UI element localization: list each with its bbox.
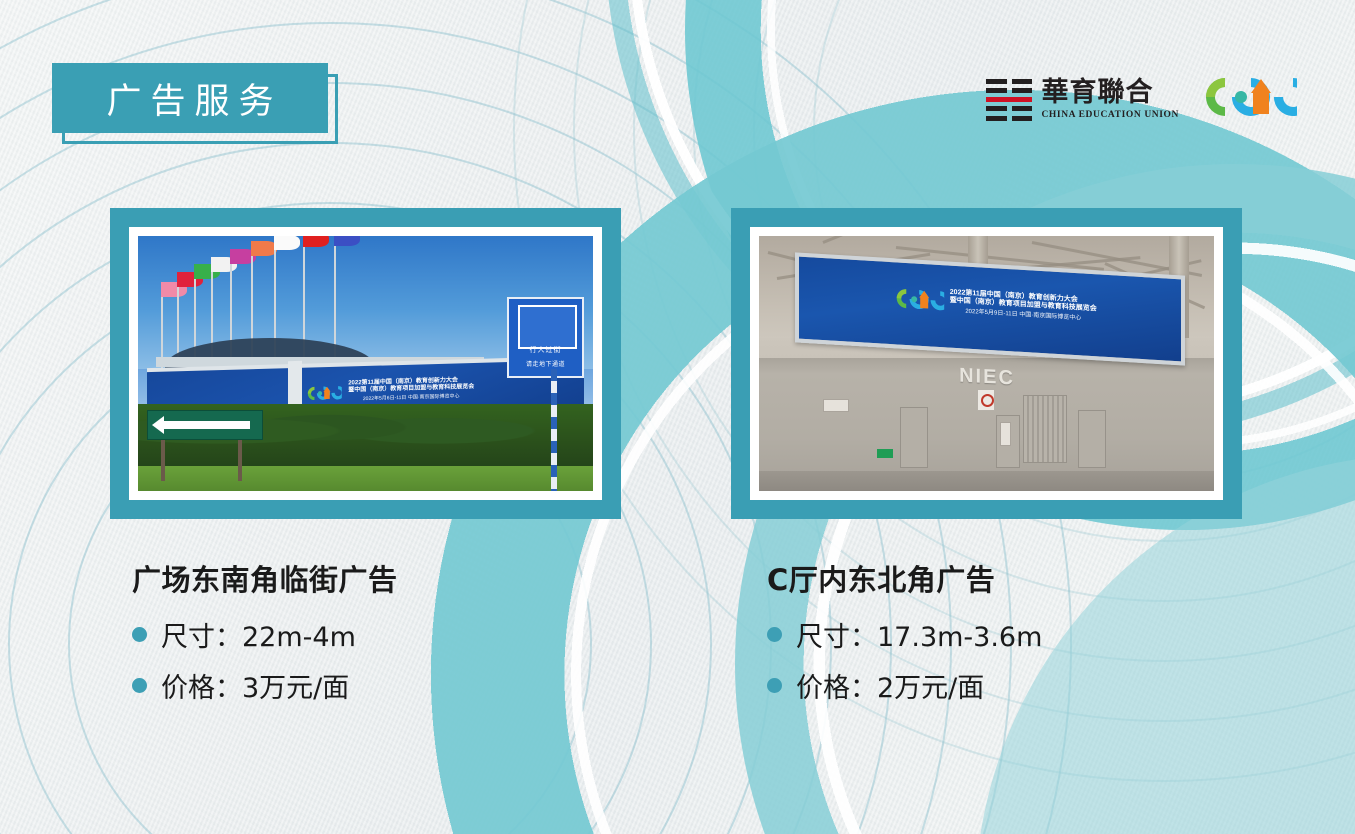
china-education-union-logo: 華育聯合 CHINA EDUCATION UNION: [986, 79, 1179, 121]
bullet-dot-icon: [767, 678, 782, 693]
ad-card-1: 2022第11届中国（南京）教育创新力大会 暨中国（南京）教育项目加盟与教育科技…: [110, 208, 621, 519]
no-smoking-sign-icon: [977, 389, 995, 411]
trigram-logo-icon: [986, 79, 1032, 121]
cdc-logo-svg: [1201, 74, 1297, 120]
cdc-logo-icon: [1201, 74, 1297, 125]
ad-card-1-bullet-size: 尺寸：22m-4m: [132, 615, 398, 654]
page-title-fill: 广告服务: [52, 63, 328, 133]
ad-card-2-bullets: 尺寸：17.3m-3.6m 价格：2万元/面: [767, 615, 1042, 705]
ad-card-2-caption: C厅内东北角广告 尺寸：17.3m-3.6m 价格：2万元/面: [767, 557, 1042, 717]
ad-card-2-bullet-price: 价格：2万元/面: [767, 666, 1042, 705]
exit-sign-icon: [877, 449, 893, 458]
photo1-grass: [138, 466, 593, 492]
photo2-ventilation-grille: [1023, 395, 1067, 463]
photo2-door-right: [1078, 410, 1106, 468]
photo1-billboard-line3: 2022年5月6日-11日 中国·南京国际博览中心: [348, 394, 474, 403]
ad-card-2: 2022第11届中国（南京）教育创新力大会 暨中国（南京）教育项目加盟与教育科技…: [731, 208, 1242, 519]
header-logos: 華育聯合 CHINA EDUCATION UNION: [986, 74, 1297, 125]
bullet-dot-icon: [132, 678, 147, 693]
ad-card-1-caption: 广场东南角临街广告 尺寸：22m-4m 价格：3万元/面: [132, 557, 398, 717]
ad-card-2-title: C厅内东北角广告: [767, 557, 1042, 599]
pedestrian-stairs-icon: [518, 305, 577, 349]
card-1-teal-frame: 2022第11届中国（南京）教育创新力大会 暨中国（南京）教育项目加盟与教育科技…: [110, 208, 621, 519]
brand-text-block: 華育聯合 CHINA EDUCATION UNION: [1041, 79, 1179, 119]
photo1-sign-post-left: [161, 435, 165, 481]
ad-card-2-bullet-size: 尺寸：17.3m-3.6m: [767, 615, 1042, 654]
ad-card-1-size-text: 尺寸：22m-4m: [161, 615, 356, 654]
page-title-badge: 广告服务: [52, 63, 328, 133]
card-2-white-mat: 2022第11届中国（南京）教育创新力大会 暨中国（南京）教育项目加盟与教育科技…: [750, 227, 1223, 500]
photo1-green-direction-sign: [147, 410, 263, 440]
photo1-road-sign-line1: 行人过街: [509, 345, 582, 355]
ad-card-1-bullets: 尺寸：22m-4m 价格：3万元/面: [132, 615, 398, 705]
ad-card-2-size-text: 尺寸：17.3m-3.6m: [796, 615, 1042, 654]
ad-card-1-price-text: 价格：3万元/面: [161, 666, 349, 705]
photo2-control-panel: [1000, 422, 1011, 446]
left-arrow-icon: [159, 421, 250, 428]
bullet-dot-icon: [767, 627, 782, 642]
photo1-billboard-cdc-logo-icon: [304, 384, 342, 401]
photo2-wall-plate: [823, 399, 849, 412]
photo2-venue-mark: NIEC: [959, 365, 1015, 391]
photo1-pedestrian-crossing-sign: 行人过街 请走地下通道: [507, 297, 584, 378]
photo1-sign-post-right: [238, 435, 242, 481]
brand-name-cn: 華育聯合: [1041, 79, 1179, 107]
bullet-dot-icon: [132, 627, 147, 642]
indoor-hall-billboard-photo: 2022第11届中国（南京）教育创新力大会 暨中国（南京）教育项目加盟与教育科技…: [759, 236, 1214, 491]
photo2-door-left: [900, 407, 928, 468]
brand-name-en: CHINA EDUCATION UNION: [1041, 110, 1179, 120]
ad-card-1-title: 广场东南角临街广告: [132, 557, 398, 599]
photo2-billboard-cdc-logo-icon: [892, 287, 944, 313]
ad-card-1-bullet-price: 价格：3万元/面: [132, 666, 398, 705]
photo2-floor: [759, 471, 1214, 491]
card-1-white-mat: 2022第11届中国（南京）教育创新力大会 暨中国（南京）教育项目加盟与教育科技…: [129, 227, 602, 500]
photo1-road-sign-line2: 请走地下通道: [509, 359, 582, 368]
outdoor-street-billboard-photo: 2022第11届中国（南京）教育创新力大会 暨中国（南京）教育项目加盟与教育科技…: [138, 236, 593, 491]
ad-card-2-price-text: 价格：2万元/面: [796, 666, 984, 705]
photo1-striped-pole: [551, 369, 557, 491]
card-2-teal-frame: 2022第11届中国（南京）教育创新力大会 暨中国（南京）教育项目加盟与教育科技…: [731, 208, 1242, 519]
page-title: 广告服务: [97, 73, 282, 124]
